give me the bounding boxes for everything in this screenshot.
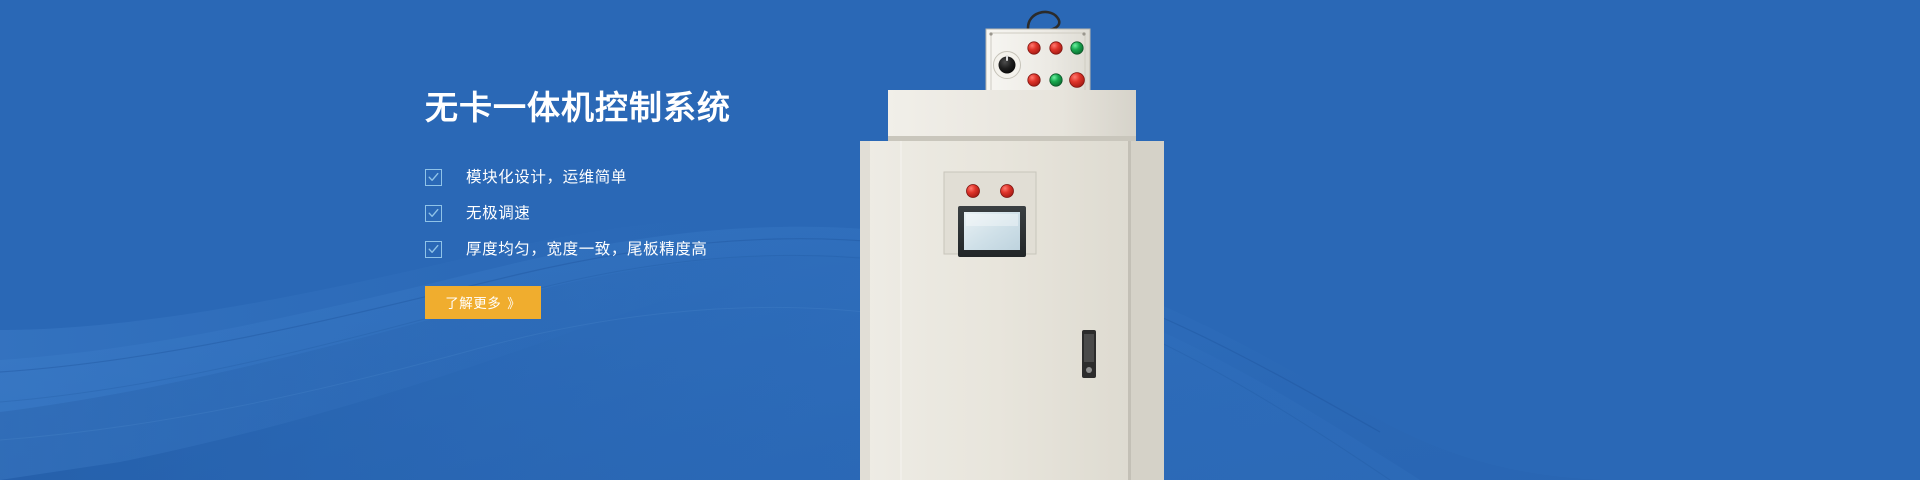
list-item: 厚度均匀，宽度一致，尾板精度高: [425, 240, 895, 260]
chevron-right-icon: 》: [507, 293, 521, 312]
feature-label: 无极调速: [466, 204, 530, 224]
feature-label: 厚度均匀，宽度一致，尾板精度高: [466, 240, 708, 260]
list-item: 模块化设计，运维简单: [425, 168, 895, 188]
learn-more-label: 了解更多: [445, 292, 501, 312]
hero-copy: 无卡一体机控制系统 模块化设计，运维简单 无极调速: [425, 88, 895, 319]
feature-list: 模块化设计，运维简单 无极调速 厚度均匀，宽度一致，尾板精度高: [425, 168, 895, 260]
learn-more-button[interactable]: 了解更多 》: [425, 286, 541, 319]
feature-label: 模块化设计，运维简单: [466, 168, 627, 188]
page-title: 无卡一体机控制系统: [425, 88, 895, 128]
hero-banner: 无卡一体机控制系统 模块化设计，运维简单 无极调速: [0, 0, 1920, 480]
control-cabinet-photo: [860, 0, 1280, 480]
check-icon: [425, 241, 442, 258]
list-item: 无极调速: [425, 204, 895, 224]
cta-wrapper: 了解更多 》: [425, 286, 895, 319]
check-icon: [425, 205, 442, 222]
check-icon: [425, 169, 442, 186]
top-control-box: [986, 12, 1090, 99]
